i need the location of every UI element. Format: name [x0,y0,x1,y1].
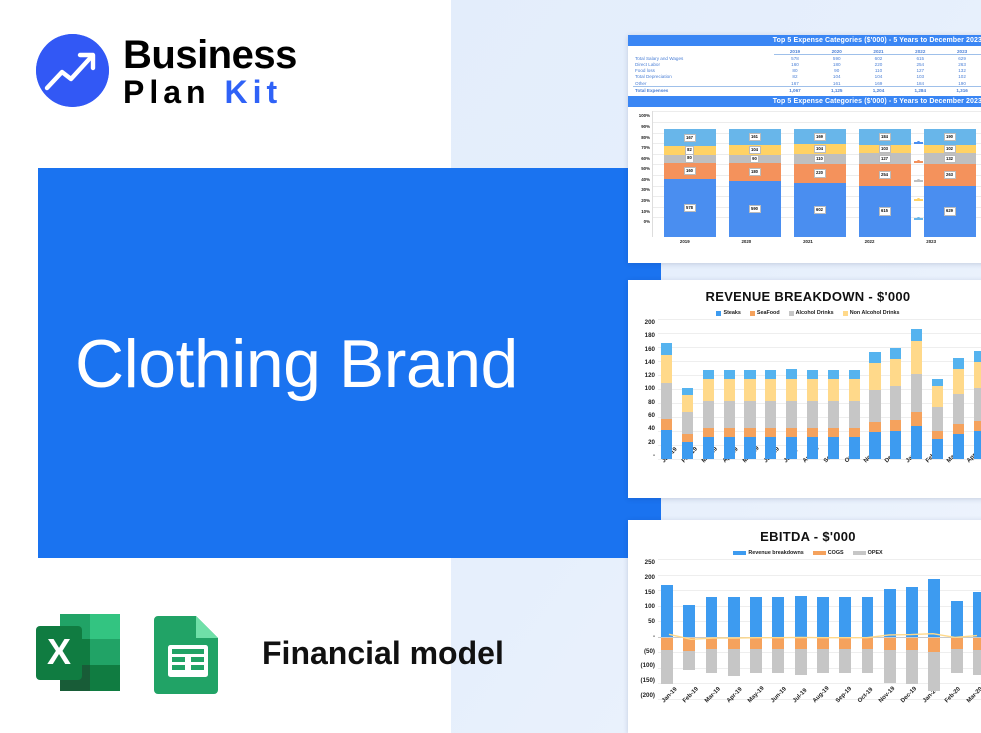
bar-segment [682,442,693,460]
table-row: Total Salary and Wages578590602615629 [633,55,981,62]
axis-tick: - [653,633,655,640]
bar-segment [953,369,964,394]
bar-value-label: 615 [879,207,891,215]
bar-value-label: 127 [879,155,891,163]
bar-segment [911,374,922,413]
bar-segment [744,401,755,428]
ebitda-chart-plot [658,559,981,699]
table-cell: 169 [858,80,900,87]
axis-tick: 100 [645,385,655,392]
legend-swatch [789,311,794,316]
table-cell: 1,204 [858,87,900,94]
bar-segment: 160 [664,163,716,179]
brand-wordmark: Business Plan Kit [123,33,297,108]
bar-segment [828,370,839,379]
axis-tick: 50 [648,618,655,625]
bar-segment [744,437,755,459]
legend-item: Alcohol Drinks [789,310,834,316]
ebitda-chart-x-axis: Jan-19Feb-19Mar-19Apr-19May-19Jun-19Jul-… [628,700,981,733]
legend-swatch [843,311,848,316]
bar-segment: 602 [794,183,846,237]
table-header-cell [633,48,774,55]
bar-segment: 629 [924,186,976,238]
bar-segment [849,379,860,401]
table-header-cell: 2021 [858,48,900,55]
axis-tick: 180 [645,332,655,339]
ebitda-chart-legend: Revenue breakdownsCOGSOPEX [628,550,981,556]
bar-segment [724,437,735,459]
axis-tick: (200) [641,692,655,699]
bar-segment [974,421,981,432]
axis-tick: 2021 [783,239,832,244]
bar-segment [974,362,981,389]
legend-item: Steaks [716,310,740,316]
expense-chart-x-axis: 20192020202120222023 [628,239,981,244]
bar-column [869,319,880,459]
bar-segment [828,379,839,401]
bar-segment: 263 [924,164,976,186]
bar-segment [724,379,735,401]
bar-segment [932,439,943,459]
bar-segment [869,422,880,433]
legend-swatch [716,311,721,316]
bar-column [744,319,755,459]
bar-segment [682,434,693,442]
bar-segment [974,388,981,420]
legend-label: Revenue breakdowns [748,550,803,556]
bar-segment [828,437,839,459]
legend-label: Alcohol Drinks [796,310,834,316]
bar-column [828,319,839,459]
table-cell: 161 [816,80,858,87]
bar-segment [869,363,880,390]
bar-value-label: 602 [814,206,826,214]
bar-column [786,319,797,459]
ebitda-overlay-line [658,559,981,699]
bar-segment: 590 [729,181,781,238]
bar-segment [703,437,714,459]
bar-segment: 132 [924,153,976,164]
axis-tick: - [653,452,655,459]
table-cell: 167 [774,80,816,87]
legend-swatch [853,551,866,555]
table-cell: 1,125 [816,87,858,94]
bar-segment [765,428,776,436]
axis-tick: 200 [645,574,655,581]
bar-value-label: 629 [944,207,956,215]
bar-value-label: 82 [685,146,695,154]
bar-value-label: 184 [879,133,891,141]
legend-label: Steaks [723,310,740,316]
bar-value-label: 132 [944,155,956,163]
axis-tick: 30% [641,187,650,192]
expense-chart-title: Top 5 Expense Categories ($'000) - 5 Yea… [628,96,981,107]
bar-column [724,319,735,459]
bar-segment [890,386,901,420]
bar-segment [953,394,964,424]
bar-segment [807,428,818,436]
growth-chart-circle-icon [36,34,109,107]
table-cell: 184 [899,80,941,87]
bar-column: 184103127254615 [859,129,911,237]
format-icons-row: X Financial model [34,612,504,694]
bar-segment [724,370,735,379]
axis-tick: 250 [645,559,655,566]
format-label: Financial model [262,635,504,672]
axis-tick: 60 [648,412,655,419]
bar-value-label: 169 [814,133,826,141]
axis-tick: 80% [641,135,650,140]
bar-segment [703,401,714,428]
bar-value-label: 80 [685,154,695,162]
bar-value-label: 110 [814,155,826,163]
bar-segment [807,379,818,401]
legend-item: OPEX [853,550,883,556]
bar-column [911,319,922,459]
table-cell: 615 [899,55,941,62]
bar-segment [890,359,901,386]
revenue-chart-legend: SteaksSeaFoodAlcohol DrinksNon Alcohol D… [628,310,981,316]
axis-tick: 50% [641,166,650,171]
bar-segment: 80 [664,155,716,163]
axis-tick: 2023 [907,239,956,244]
bar-value-label: 190 [944,133,956,141]
bar-column: 1678280160578 [664,129,716,237]
google-sheets-icon [144,612,232,694]
table-header-cell: 2022 [899,48,941,55]
axis-tick: 90% [641,124,650,129]
bar-segment: 254 [859,164,911,185]
bar-segment [890,348,901,359]
legend-item: Revenue breakdowns [733,550,803,556]
bar-segment [953,434,964,459]
bar-segment [765,401,776,428]
bar-segment [849,428,860,436]
bar-column [661,319,672,459]
bar-segment: 169 [794,129,846,144]
bar-column [849,319,860,459]
bar-segment [911,341,922,373]
bar-segment [849,370,860,379]
bar-segment: 180 [729,163,781,180]
bar-segment: 578 [664,179,716,238]
table-total-row: Total Expenses1,0671,1251,2041,2841,316 [633,87,981,94]
page-title: Clothing Brand [75,325,518,403]
bar-segment: 184 [859,129,911,144]
legend-label: SeaFood [757,310,780,316]
axis-tick: 100 [645,603,655,610]
bar-segment [765,437,776,459]
bar-segment [932,386,943,406]
bar-segment [828,428,839,436]
bar-column [890,319,901,459]
table-row-label: Total Expenses [633,87,774,94]
revenue-chart-x-axis: Jan-19Feb-19Mar-19Apr-19May-19Jun-19Jul-… [628,460,981,494]
legend-swatch [750,311,755,316]
legend-item: Non Alcohol Drinks [843,310,900,316]
legend-swatch [733,551,746,555]
bar-segment [890,431,901,459]
expense-chart-plot: 1678280160578161104901805901691041102206… [652,111,981,237]
bar-segment [869,352,880,363]
table-header-cell: 2023 [941,48,981,55]
bar-segment [744,370,755,379]
bar-segment: 127 [859,153,911,164]
bar-value-label: 160 [684,167,696,175]
bar-segment [932,431,943,439]
bar-segment: 102 [924,145,976,153]
axis-tick: 2019 [660,239,709,244]
bar-value-label: 254 [879,171,891,179]
bar-segment: 615 [859,186,911,238]
bar-value-label: 104 [814,145,826,153]
bar-segment [661,419,672,430]
bar-segment [765,379,776,401]
legend-marker [914,142,923,144]
bar-segment [786,379,797,401]
bar-column: 16110490180590 [729,129,781,237]
bar-segment [661,430,672,459]
bar-segment [703,428,714,436]
ebitda-card: EBITDA - $'000 Revenue breakdownsCOGSOPE… [628,520,981,733]
bar-segment: 161 [729,129,781,144]
bar-value-label: 167 [684,134,696,142]
bar-column [953,319,964,459]
axis-tick: 10% [641,209,650,214]
bar-segment [786,401,797,428]
bar-segment [661,383,672,419]
table-header-cell: 2020 [816,48,858,55]
table-cell: 578 [774,55,816,62]
brand-line-1: Business [123,35,297,75]
bar-segment [911,412,922,426]
bar-segment: 103 [859,145,911,154]
bar-column [974,319,981,459]
bar-segment [661,355,672,383]
bar-segment: 104 [794,144,846,153]
axis-tick: 2022 [845,239,894,244]
axis-tick: 0% [644,219,650,224]
ebitda-chart-title: EBITDA - $'000 [628,520,981,544]
axis-tick: 150 [645,589,655,596]
brand-line-2: Plan Kit [123,76,297,108]
table-cell: 629 [941,55,981,62]
brand-kit-text: Kit [224,74,282,110]
bar-segment: 104 [729,145,781,155]
bar-column [807,319,818,459]
bar-value-label: 161 [749,133,761,141]
bar-segment [786,428,797,436]
table-row-label: Other [633,80,774,87]
table-cell: 190 [941,80,981,87]
legend-label: OPEX [868,550,883,556]
bar-segment [911,329,922,342]
table-header-cell: 2019 [774,48,816,55]
bar-segment [661,343,672,356]
bar-segment: 82 [664,146,716,154]
legend-marker [914,180,923,182]
table-header-row: 20192020202120222023 [633,48,981,55]
bar-segment: 190 [924,129,976,145]
bar-segment [890,420,901,431]
bar-column: 190102132263629 [924,129,976,237]
bar-value-label: 590 [749,205,761,213]
bar-segment [807,437,818,459]
bar-segment [786,369,797,379]
bar-segment [682,395,693,413]
bar-column [682,319,693,459]
ebitda-chart-y-axis: 25020015010050-(50)(100)(150)(200) [628,559,658,699]
bar-segment [869,390,880,422]
bar-column: 169104110220602 [794,129,846,237]
revenue-breakdown-card: REVENUE BREAKDOWN - $'000 SteaksSeaFoodA… [628,280,981,498]
bar-segment [953,424,964,434]
legend-item: SeaFood [750,310,780,316]
bar-value-label: 102 [944,145,956,153]
table-cell: 602 [858,55,900,62]
bar-segment [703,379,714,401]
legend-marker [914,199,923,201]
table-row: Other167161169184190 [633,80,981,87]
bar-segment [953,358,964,369]
expense-categories-card: Top 5 Expense Categories ($'000) - 5 Yea… [628,35,981,263]
axis-tick: 70% [641,145,650,150]
axis-tick: 100% [639,113,650,118]
bar-segment [974,351,981,362]
axis-tick: 140 [645,359,655,366]
axis-tick: 160 [645,346,655,353]
bar-value-label: 578 [684,204,696,212]
bar-segment [786,437,797,459]
bar-value-label: 103 [879,145,891,153]
legend-label: Non Alcohol Drinks [850,310,900,316]
revenue-chart-title: REVENUE BREAKDOWN - $'000 [628,280,981,304]
bar-column [765,319,776,459]
bar-segment [974,431,981,459]
revenue-chart-y-axis: 20018016014012010080604020- [628,319,658,459]
axis-tick: 20% [641,198,650,203]
bar-value-label: 220 [814,169,826,177]
bar-segment [724,428,735,436]
bar-segment [807,370,818,379]
bar-segment [703,370,714,379]
brand-logo: Business Plan Kit [36,33,297,108]
axis-tick: 80 [648,399,655,406]
legend-label: COGS [828,550,844,556]
table-cell: 1,067 [774,87,816,94]
bar-segment [828,401,839,428]
bar-segment [682,412,693,434]
bar-segment [765,370,776,379]
legend-marker [914,218,923,220]
bar-segment: 220 [794,164,846,184]
legend-item: COGS [813,550,844,556]
legend-swatch [813,551,826,555]
axis-tick: 200 [645,319,655,326]
bar-segment [807,401,818,428]
axis-tick: 20 [648,439,655,446]
bar-segment: 167 [664,129,716,146]
brand-plan-text: Plan [123,74,211,110]
table-row-label: Total Salary and Wages [633,55,774,62]
bar-value-label: 263 [944,171,956,179]
bar-segment [744,379,755,401]
revenue-chart-plot [658,319,981,459]
microsoft-excel-icon: X [34,612,122,694]
legend-marker [914,161,923,163]
axis-tick: 2020 [722,239,771,244]
bar-segment [849,401,860,428]
bar-segment [724,401,735,428]
axis-tick: 40% [641,177,650,182]
bar-segment [744,428,755,436]
axis-tick: (150) [641,677,655,684]
axis-tick: 120 [645,372,655,379]
axis-tick: (100) [641,662,655,669]
bar-segment: 90 [729,155,781,164]
bar-segment [932,379,943,387]
expense-table-title: Top 5 Expense Categories ($'000) - 5 Yea… [628,35,981,46]
axis-tick: (50) [644,648,655,655]
table-cell: 1,284 [899,87,941,94]
svg-text:X: X [47,631,71,672]
table-cell: 590 [816,55,858,62]
expense-table: 20192020202120222023Total Salary and Wag… [633,48,981,93]
bar-column [703,319,714,459]
bar-segment: 110 [794,154,846,164]
bar-value-label: 90 [750,155,760,163]
bar-segment [932,407,943,432]
bar-column [932,319,943,459]
bar-value-label: 180 [749,168,761,176]
bar-value-label: 104 [749,146,761,154]
expense-percent-stacked-chart: 100%90%80%70%60%50%40%30%20%10%0% 167828… [628,107,981,237]
bar-segment [849,437,860,459]
axis-tick: 60% [641,156,650,161]
bar-segment [682,388,693,395]
axis-tick: 40 [648,425,655,432]
table-cell: 1,316 [941,87,981,94]
bar-segment [869,432,880,459]
expense-chart-y-axis: 100%90%80%70%60%50%40%30%20%10%0% [630,111,652,237]
bar-segment [911,426,922,459]
